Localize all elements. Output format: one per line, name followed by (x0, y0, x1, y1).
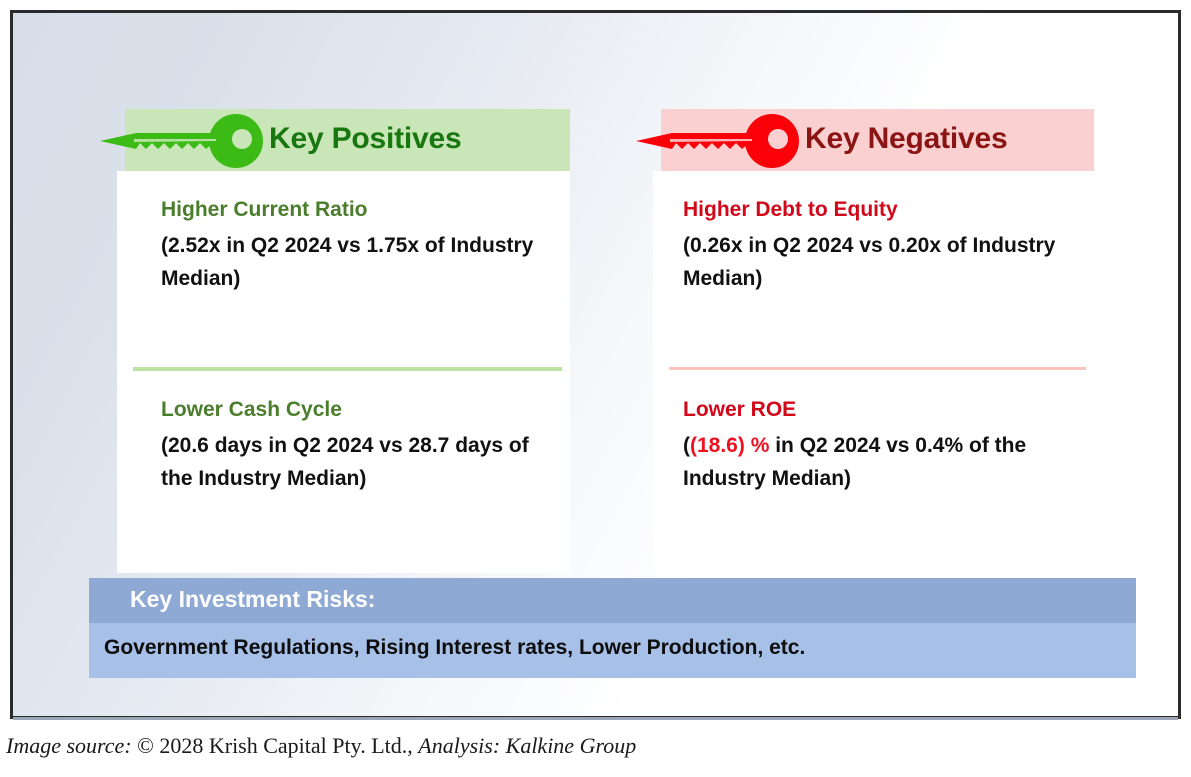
figure-frame: Key Positives Higher Current Ratio (2.52… (10, 10, 1181, 719)
key-negatives-card: Higher Debt to Equity (0.26x in Q2 2024 … (653, 171, 1094, 573)
negative-block-1-text: (0.26x in Q2 2024 vs 0.20x of Industry M… (683, 230, 1078, 295)
caption-analysis: Analysis: Kalkine Group (418, 733, 636, 758)
infographic-figure: Key Positives Higher Current Ratio (2.52… (0, 0, 1191, 777)
negatives-divider (669, 367, 1086, 370)
key-icon (632, 113, 817, 169)
negative-block-1: Higher Debt to Equity (0.26x in Q2 2024 … (683, 197, 1078, 295)
positives-divider (133, 367, 562, 371)
key-positives-header: Key Positives (117, 109, 570, 171)
negative-block-1-title: Higher Debt to Equity (683, 197, 1078, 222)
key-negatives-title: Key Negatives (805, 122, 1008, 156)
key-positives-title: Key Positives (269, 122, 462, 156)
key-positives-card: Higher Current Ratio (2.52x in Q2 2024 v… (117, 171, 570, 573)
column-key-positives: Key Positives Higher Current Ratio (2.52… (117, 109, 570, 573)
positive-block-1-title: Higher Current Ratio (161, 197, 554, 222)
positive-block-2-text: (20.6 days in Q2 2024 vs 28.7 days of th… (161, 430, 554, 495)
negative-text-prefix: ( (683, 434, 690, 457)
positive-block-1-text: (2.52x in Q2 2024 vs 1.75x of Industry M… (161, 230, 554, 295)
negative-block-2-title: Lower ROE (683, 397, 1078, 422)
negative-text-highlight: (18.6) % (690, 434, 769, 457)
key-investment-risks-banner: Key Investment Risks: Government Regulat… (89, 578, 1136, 678)
risks-heading-band: Key Investment Risks: (89, 578, 1136, 623)
positive-block-2: Lower Cash Cycle (20.6 days in Q2 2024 v… (161, 397, 554, 495)
column-key-negatives: Key Negatives Higher Debt to Equity (0.2… (653, 109, 1094, 573)
key-icon (96, 113, 281, 169)
source-caption: Image source: © 2028 Krish Capital Pty. … (6, 733, 636, 759)
positive-block-1: Higher Current Ratio (2.52x in Q2 2024 v… (161, 197, 554, 295)
risks-heading-label: Key Investment Risks: (130, 586, 375, 613)
negative-block-2-text: ((18.6) % in Q2 2024 vs 0.4% of the Indu… (683, 430, 1078, 495)
positive-block-2-title: Lower Cash Cycle (161, 397, 554, 422)
negative-block-2: Lower ROE ((18.6) % in Q2 2024 vs 0.4% o… (683, 397, 1078, 495)
risks-body-text: Government Regulations, Rising Interest … (104, 636, 805, 660)
caption-source-label: Image source: (6, 733, 137, 758)
risks-body-band: Government Regulations, Rising Interest … (89, 623, 1136, 678)
caption-copyright: © 2028 Krish Capital Pty. Ltd., (137, 733, 418, 758)
key-negatives-header: Key Negatives (653, 109, 1094, 171)
